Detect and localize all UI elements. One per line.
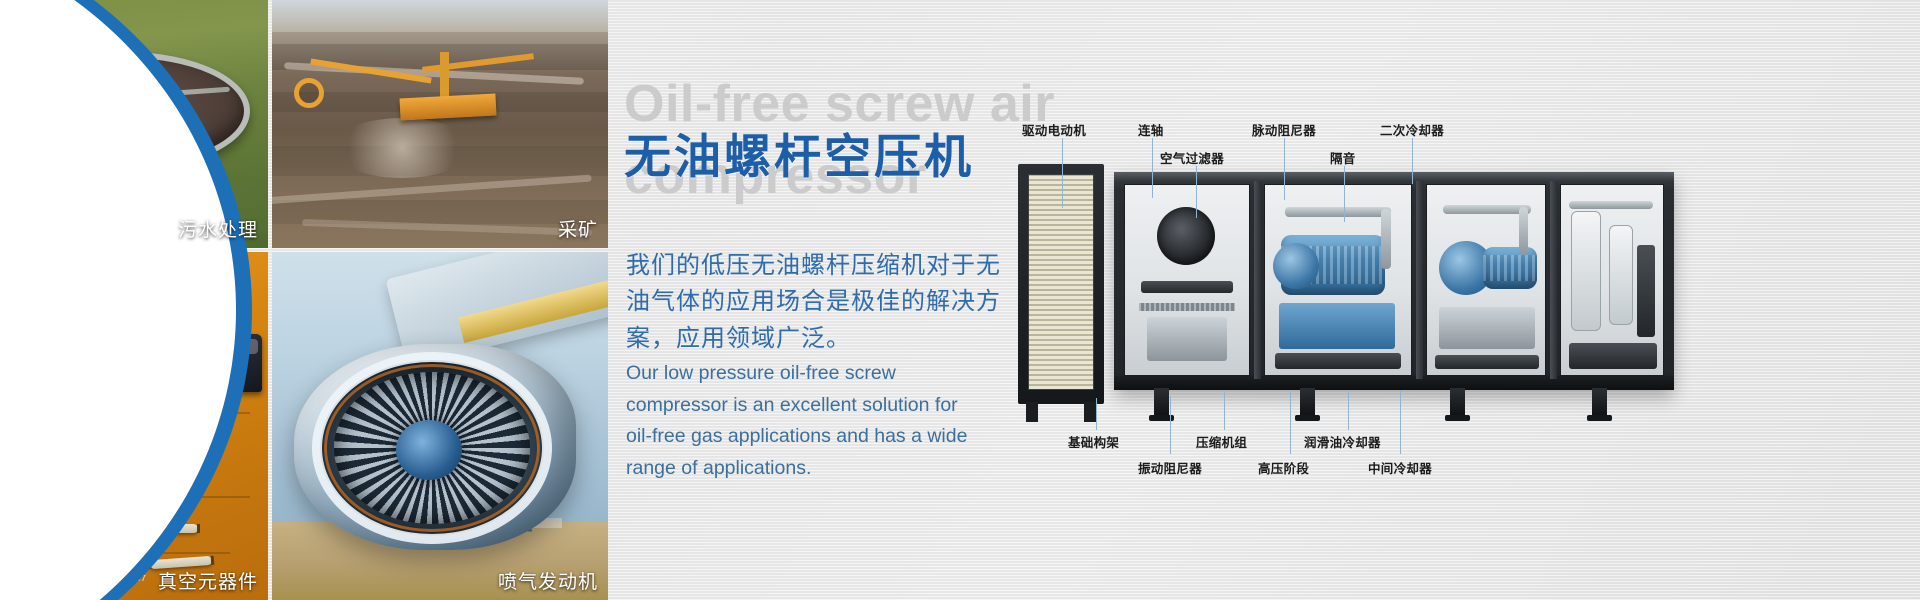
callout-label: 脉动阻尼器 [1252,120,1316,139]
callout-label: 振动阻尼器 [1138,458,1202,477]
callout-leader [1290,392,1291,454]
callout-leader [1344,166,1345,222]
callout-leader [1170,396,1171,454]
bay-high-pressure-stage [1426,184,1546,376]
page-title: 无油螺杆空压机 [624,118,974,187]
jet-engine-illustration [272,252,608,600]
callout-label: 二次冷却器 [1380,120,1444,139]
photo-caption: 采矿 [558,215,598,242]
callout-leader [1224,392,1225,430]
description-chinese: 我们的低压无油螺杆压缩机对于无油气体的应用场合是极佳的解决方案，应用领域广泛。 [626,248,1018,357]
photo-caption: 喷气发动机 [498,567,598,594]
callout-label: 中间冷却器 [1368,458,1432,477]
callout-leader [1348,392,1349,430]
mining-illustration [272,0,608,248]
callout-label: 空气过滤器 [1160,148,1224,167]
callout-label: 压缩机组 [1196,432,1247,451]
callout-leader [1400,390,1401,454]
bay-oil-cooler [1560,184,1664,376]
callout-label: 隔音 [1330,148,1356,167]
photo-sewage-treatment: 污水处理 [0,0,268,248]
callout-leader [1412,138,1413,184]
headline-block: Oil-free screw air compressor 无油螺杆空压机 我们… [624,0,1044,600]
compressor-diagram: 驱动电动机 连轴 脉动阻尼器 二次冷却器 空气过滤器 隔音 基础构架 压缩机组 … [1000,0,1920,600]
description-english: Our low pressure oil-free screw compress… [626,358,986,484]
callout-leader [1196,166,1197,218]
photo-vacuum-components: TC8 R40 C64 D6 D5 R57 C12 60W 真空元器件 [0,252,268,600]
photo-mining: 采矿 [272,0,608,248]
callout-label: 高压阶段 [1258,458,1309,477]
photo-jet-engine: 喷气发动机 [272,252,608,600]
sewage-treatment-illustration [0,0,268,248]
enclosure-cabinet [1114,172,1674,390]
compressor-unit [1018,168,1708,394]
aftercooler-housing [1018,164,1104,404]
callout-label: 润滑油冷却器 [1304,432,1381,451]
callout-label: 基础构架 [1068,432,1119,451]
bay-compressor-block [1264,184,1412,376]
bay-drive-motor [1124,184,1250,376]
callout-leader [1062,138,1063,208]
callout-leader [1152,138,1153,198]
photo-caption: 污水处理 [178,215,258,242]
photo-caption: 真空元器件 [158,567,258,594]
callout-leader [1096,398,1097,430]
callout-leader [1284,138,1285,200]
pcb-illustration: TC8 R40 C64 D6 D5 R57 C12 60W [0,252,268,600]
callout-label: 驱动电动机 [1022,120,1086,139]
product-banner: 污水处理 采矿 [0,0,1920,600]
application-photo-collage: 污水处理 采矿 [0,0,608,600]
callout-label: 连轴 [1138,120,1164,139]
